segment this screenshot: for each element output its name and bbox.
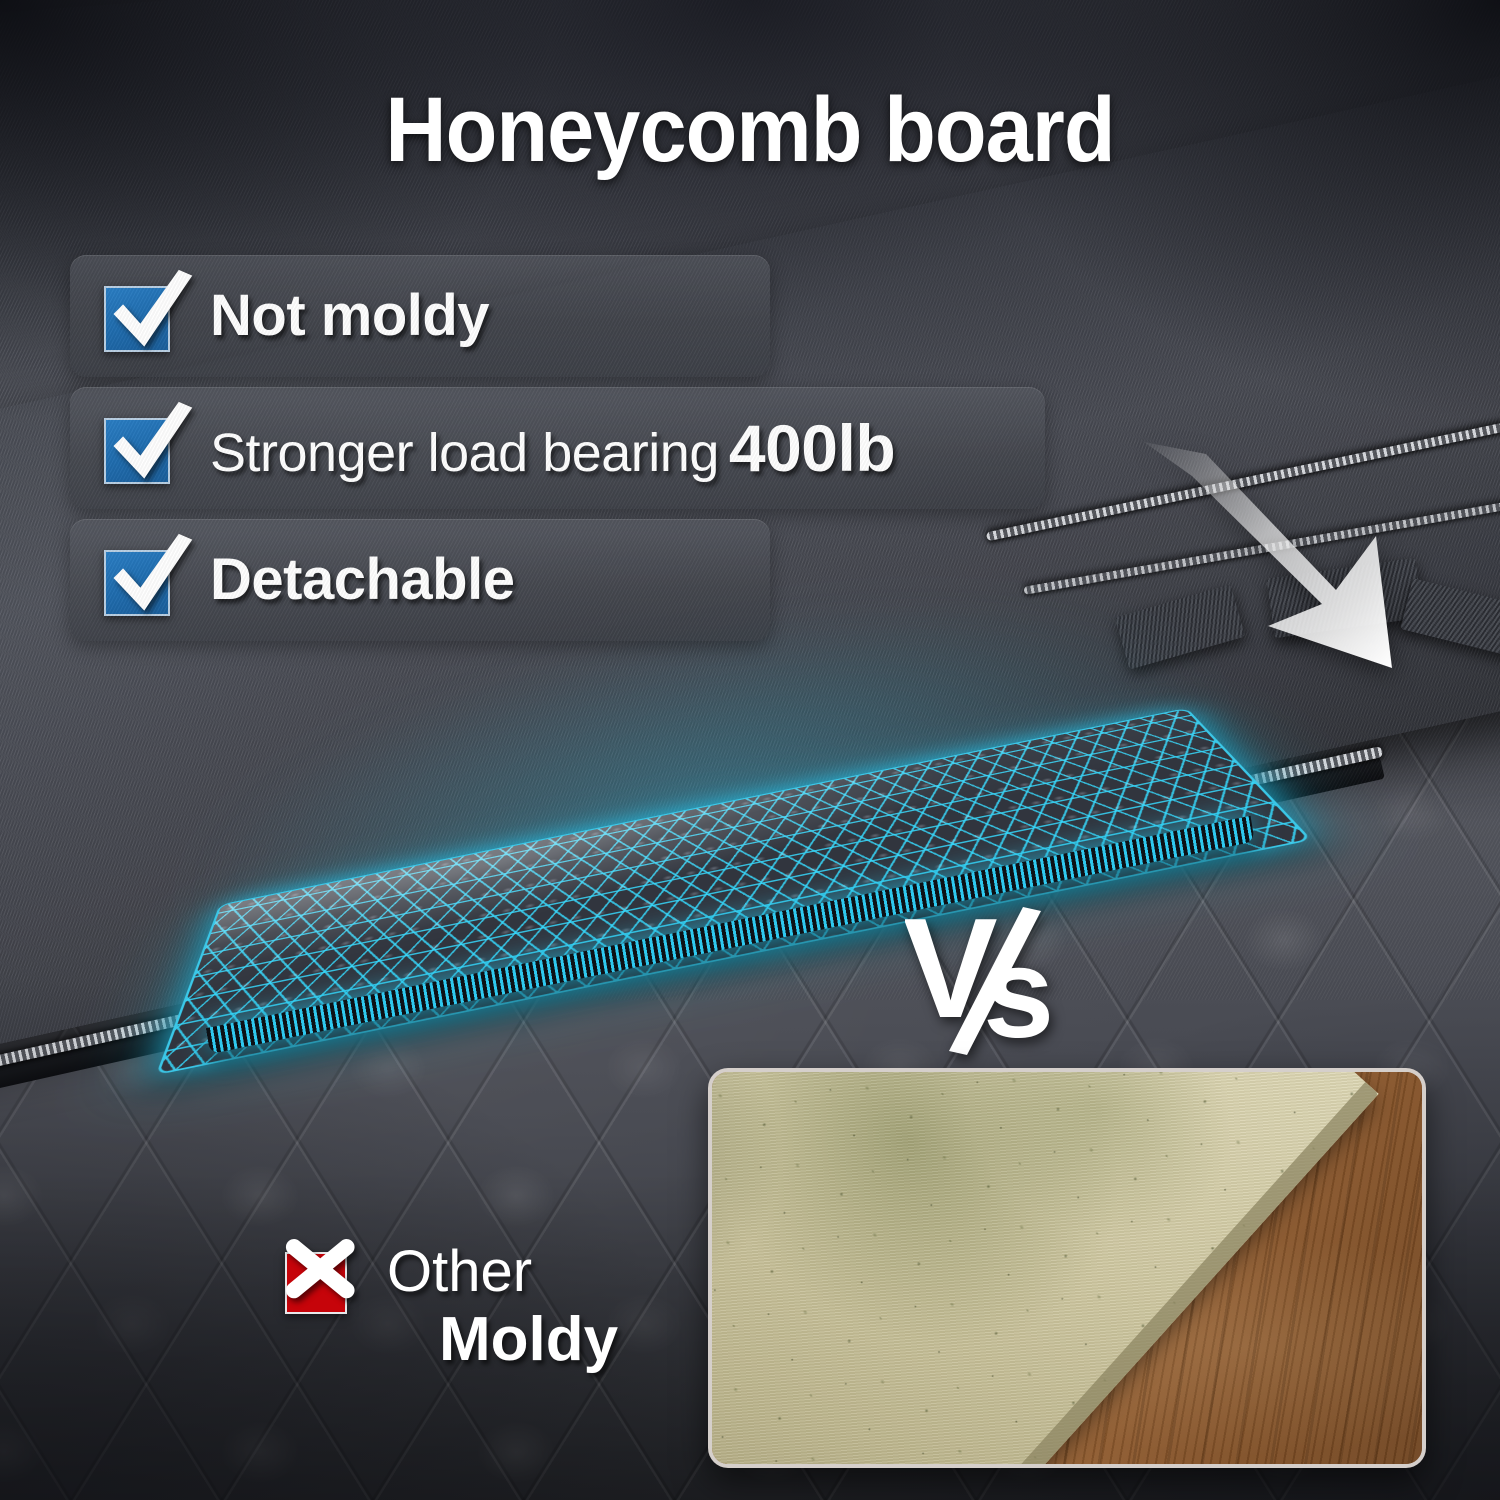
feature-label-value: 400lb [729, 411, 895, 485]
moldy-pad-photo [708, 1068, 1426, 1468]
checkmark-glyph [102, 530, 198, 626]
page-title: Honeycomb board [60, 78, 1440, 183]
vs-badge: V s [905, 905, 1085, 1055]
feature-label-text: Stronger load bearing [210, 423, 719, 483]
feature-row-detachable: Detachable [70, 519, 770, 641]
other-moldy-text: Other Moldy [387, 1242, 618, 1374]
product-infographic: Honeycomb board Not moldy Stronger load … [0, 0, 1500, 1500]
feature-label: Not moldy [210, 287, 489, 345]
moldy-label: Moldy [439, 1307, 618, 1374]
check-icon [104, 280, 176, 352]
checkmark-glyph [102, 398, 198, 494]
feature-list: Not moldy Stronger load bearing400lb Det… [70, 255, 1045, 641]
check-icon [104, 412, 176, 484]
other-moldy-label: Other Moldy [283, 1238, 618, 1374]
other-label: Other [387, 1242, 618, 1301]
cross-glyph [277, 1232, 371, 1326]
x-icon [283, 1238, 361, 1316]
feature-label: Detachable [210, 551, 514, 609]
checkmark-glyph [102, 266, 198, 362]
feature-label: Stronger load bearing400lb [210, 415, 895, 481]
check-icon [104, 544, 176, 616]
arrow-down-right-icon [1140, 440, 1460, 700]
feature-row-not-moldy: Not moldy [70, 255, 770, 377]
feature-row-load-bearing: Stronger load bearing400lb [70, 387, 1045, 509]
